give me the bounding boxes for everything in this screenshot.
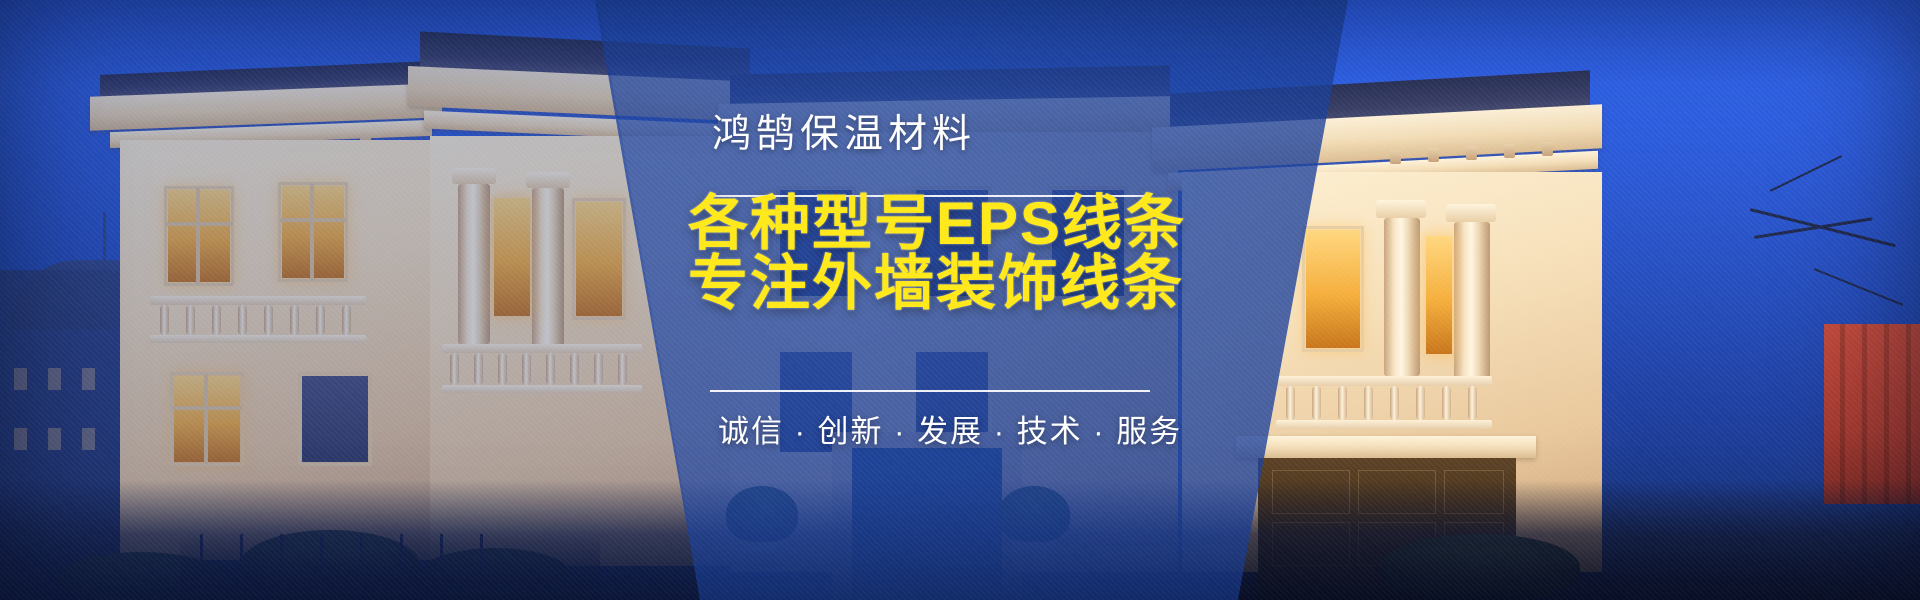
- headline-line-1: 各种型号EPS线条: [688, 192, 1186, 256]
- headline-line-2: 专注外墙装饰线条: [688, 252, 1184, 316]
- divider-bottom: [710, 390, 1150, 392]
- banner-copy: 鸿鹄保温材料 各种型号EPS线条 专注外墙装饰线条 诚信 · 创新 · 发展 ·…: [0, 0, 1920, 600]
- promo-banner: 鸿鹄保温材料 各种型号EPS线条 专注外墙装饰线条 诚信 · 创新 · 发展 ·…: [0, 0, 1920, 600]
- tagline: 诚信 · 创新 · 发展 · 技术 · 服务: [718, 406, 1182, 451]
- brand-name: 鸿鹄保温材料: [712, 103, 976, 159]
